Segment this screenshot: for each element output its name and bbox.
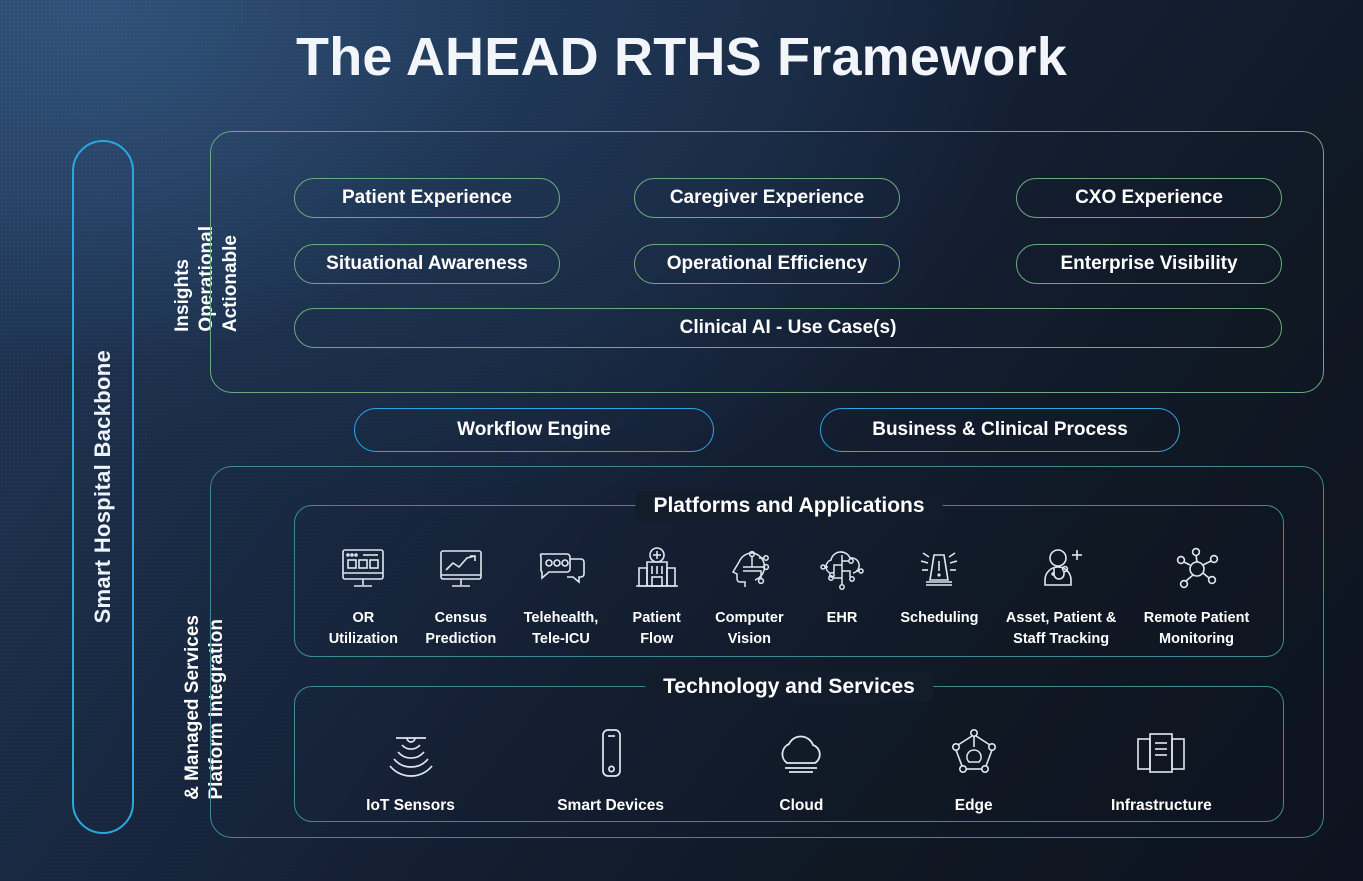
- item-label: Telehealth,Tele-ICU: [524, 608, 599, 650]
- item-label: IoT Sensors: [366, 795, 455, 817]
- vlabel-line-3: Insights: [172, 259, 194, 332]
- item-label: EHR: [827, 608, 858, 629]
- dashboard-monitor-icon: [332, 540, 394, 598]
- pill-business-clinical-process[interactable]: Business & Clinical Process: [820, 408, 1180, 452]
- item-label: ComputerVision: [715, 608, 783, 650]
- vlabel-line-2: & Managed Services: [182, 615, 204, 800]
- page-title: The AHEAD RTHS Framework: [0, 26, 1363, 88]
- chat-bubbles-icon: [530, 540, 592, 598]
- item-label: PatientFlow: [633, 608, 681, 650]
- platform-item-ehr[interactable]: EHR: [811, 540, 873, 629]
- chart-monitor-icon: [430, 540, 492, 598]
- item-label: Infrastructure: [1111, 795, 1212, 817]
- item-label: Edge: [955, 795, 993, 817]
- cloud-icon: [766, 721, 836, 785]
- item-label: ORUtilization: [329, 608, 398, 650]
- technology-and-services-card: Technology and Services IoT Sensors: [294, 686, 1284, 822]
- item-label: Remote PatientMonitoring: [1144, 608, 1250, 650]
- pill-cxo-experience[interactable]: CXO Experience: [1016, 178, 1282, 218]
- framework-diagram: The AHEAD RTHS Framework Smart Hospital …: [0, 0, 1363, 881]
- technology-item-smart-devices[interactable]: Smart Devices: [557, 721, 664, 817]
- platform-item-computer-vision[interactable]: ComputerVision: [715, 540, 783, 650]
- item-label: Scheduling: [900, 608, 978, 629]
- platform-item-remote-patient-monitoring[interactable]: Remote PatientMonitoring: [1144, 540, 1250, 650]
- pill-patient-experience[interactable]: Patient Experience: [294, 178, 560, 218]
- technology-item-cloud[interactable]: Cloud: [766, 721, 836, 817]
- network-nodes-icon: [1166, 540, 1228, 598]
- platform-item-telehealth-teleicu[interactable]: Telehealth,Tele-ICU: [524, 540, 599, 650]
- pill-clinical-ai-use-cases[interactable]: Clinical AI - Use Case(s): [294, 308, 1282, 348]
- item-label: Smart Devices: [557, 795, 664, 817]
- doctor-stethoscope-icon: [1030, 540, 1092, 598]
- platforms-and-applications-card: Platforms and Applications ORUtilization: [294, 505, 1284, 657]
- pill-workflow-engine[interactable]: Workflow Engine: [354, 408, 714, 452]
- platform-item-or-utilization[interactable]: ORUtilization: [329, 540, 398, 650]
- smart-hospital-backbone-rail: Smart Hospital Backbone: [72, 140, 134, 834]
- item-label: Cloud: [779, 795, 823, 817]
- pill-operational-efficiency[interactable]: Operational Efficiency: [634, 244, 900, 284]
- technology-item-infrastructure[interactable]: Infrastructure: [1111, 721, 1212, 817]
- platform-item-patient-flow[interactable]: PatientFlow: [626, 540, 688, 650]
- technology-items-row: IoT Sensors Smart Devices: [295, 687, 1283, 821]
- platforms-items-row: ORUtilization CensusPrediction: [295, 506, 1283, 656]
- metronome-alert-icon: [908, 540, 970, 598]
- pill-caregiver-experience[interactable]: Caregiver Experience: [634, 178, 900, 218]
- technology-item-edge[interactable]: Edge: [939, 721, 1009, 817]
- cloud-circuit-icon: [811, 540, 873, 598]
- head-circuit-icon: [718, 540, 780, 598]
- platform-item-scheduling[interactable]: Scheduling: [900, 540, 978, 629]
- pill-enterprise-visibility[interactable]: Enterprise Visibility: [1016, 244, 1282, 284]
- edge-mesh-icon: [939, 721, 1009, 785]
- pill-situational-awareness[interactable]: Situational Awareness: [294, 244, 560, 284]
- platform-item-asset-patient-staff-tracking[interactable]: Asset, Patient &Staff Tracking: [1006, 540, 1116, 650]
- sensor-waves-icon: [376, 721, 446, 785]
- technology-item-iot-sensors[interactable]: IoT Sensors: [366, 721, 455, 817]
- server-racks-icon: [1126, 721, 1196, 785]
- item-label: Asset, Patient &Staff Tracking: [1006, 608, 1116, 650]
- smartphone-icon: [576, 721, 646, 785]
- backbone-label: Smart Hospital Backbone: [90, 350, 116, 623]
- hospital-building-icon: [626, 540, 688, 598]
- platform-item-census-prediction[interactable]: CensusPrediction: [425, 540, 496, 650]
- item-label: CensusPrediction: [425, 608, 496, 650]
